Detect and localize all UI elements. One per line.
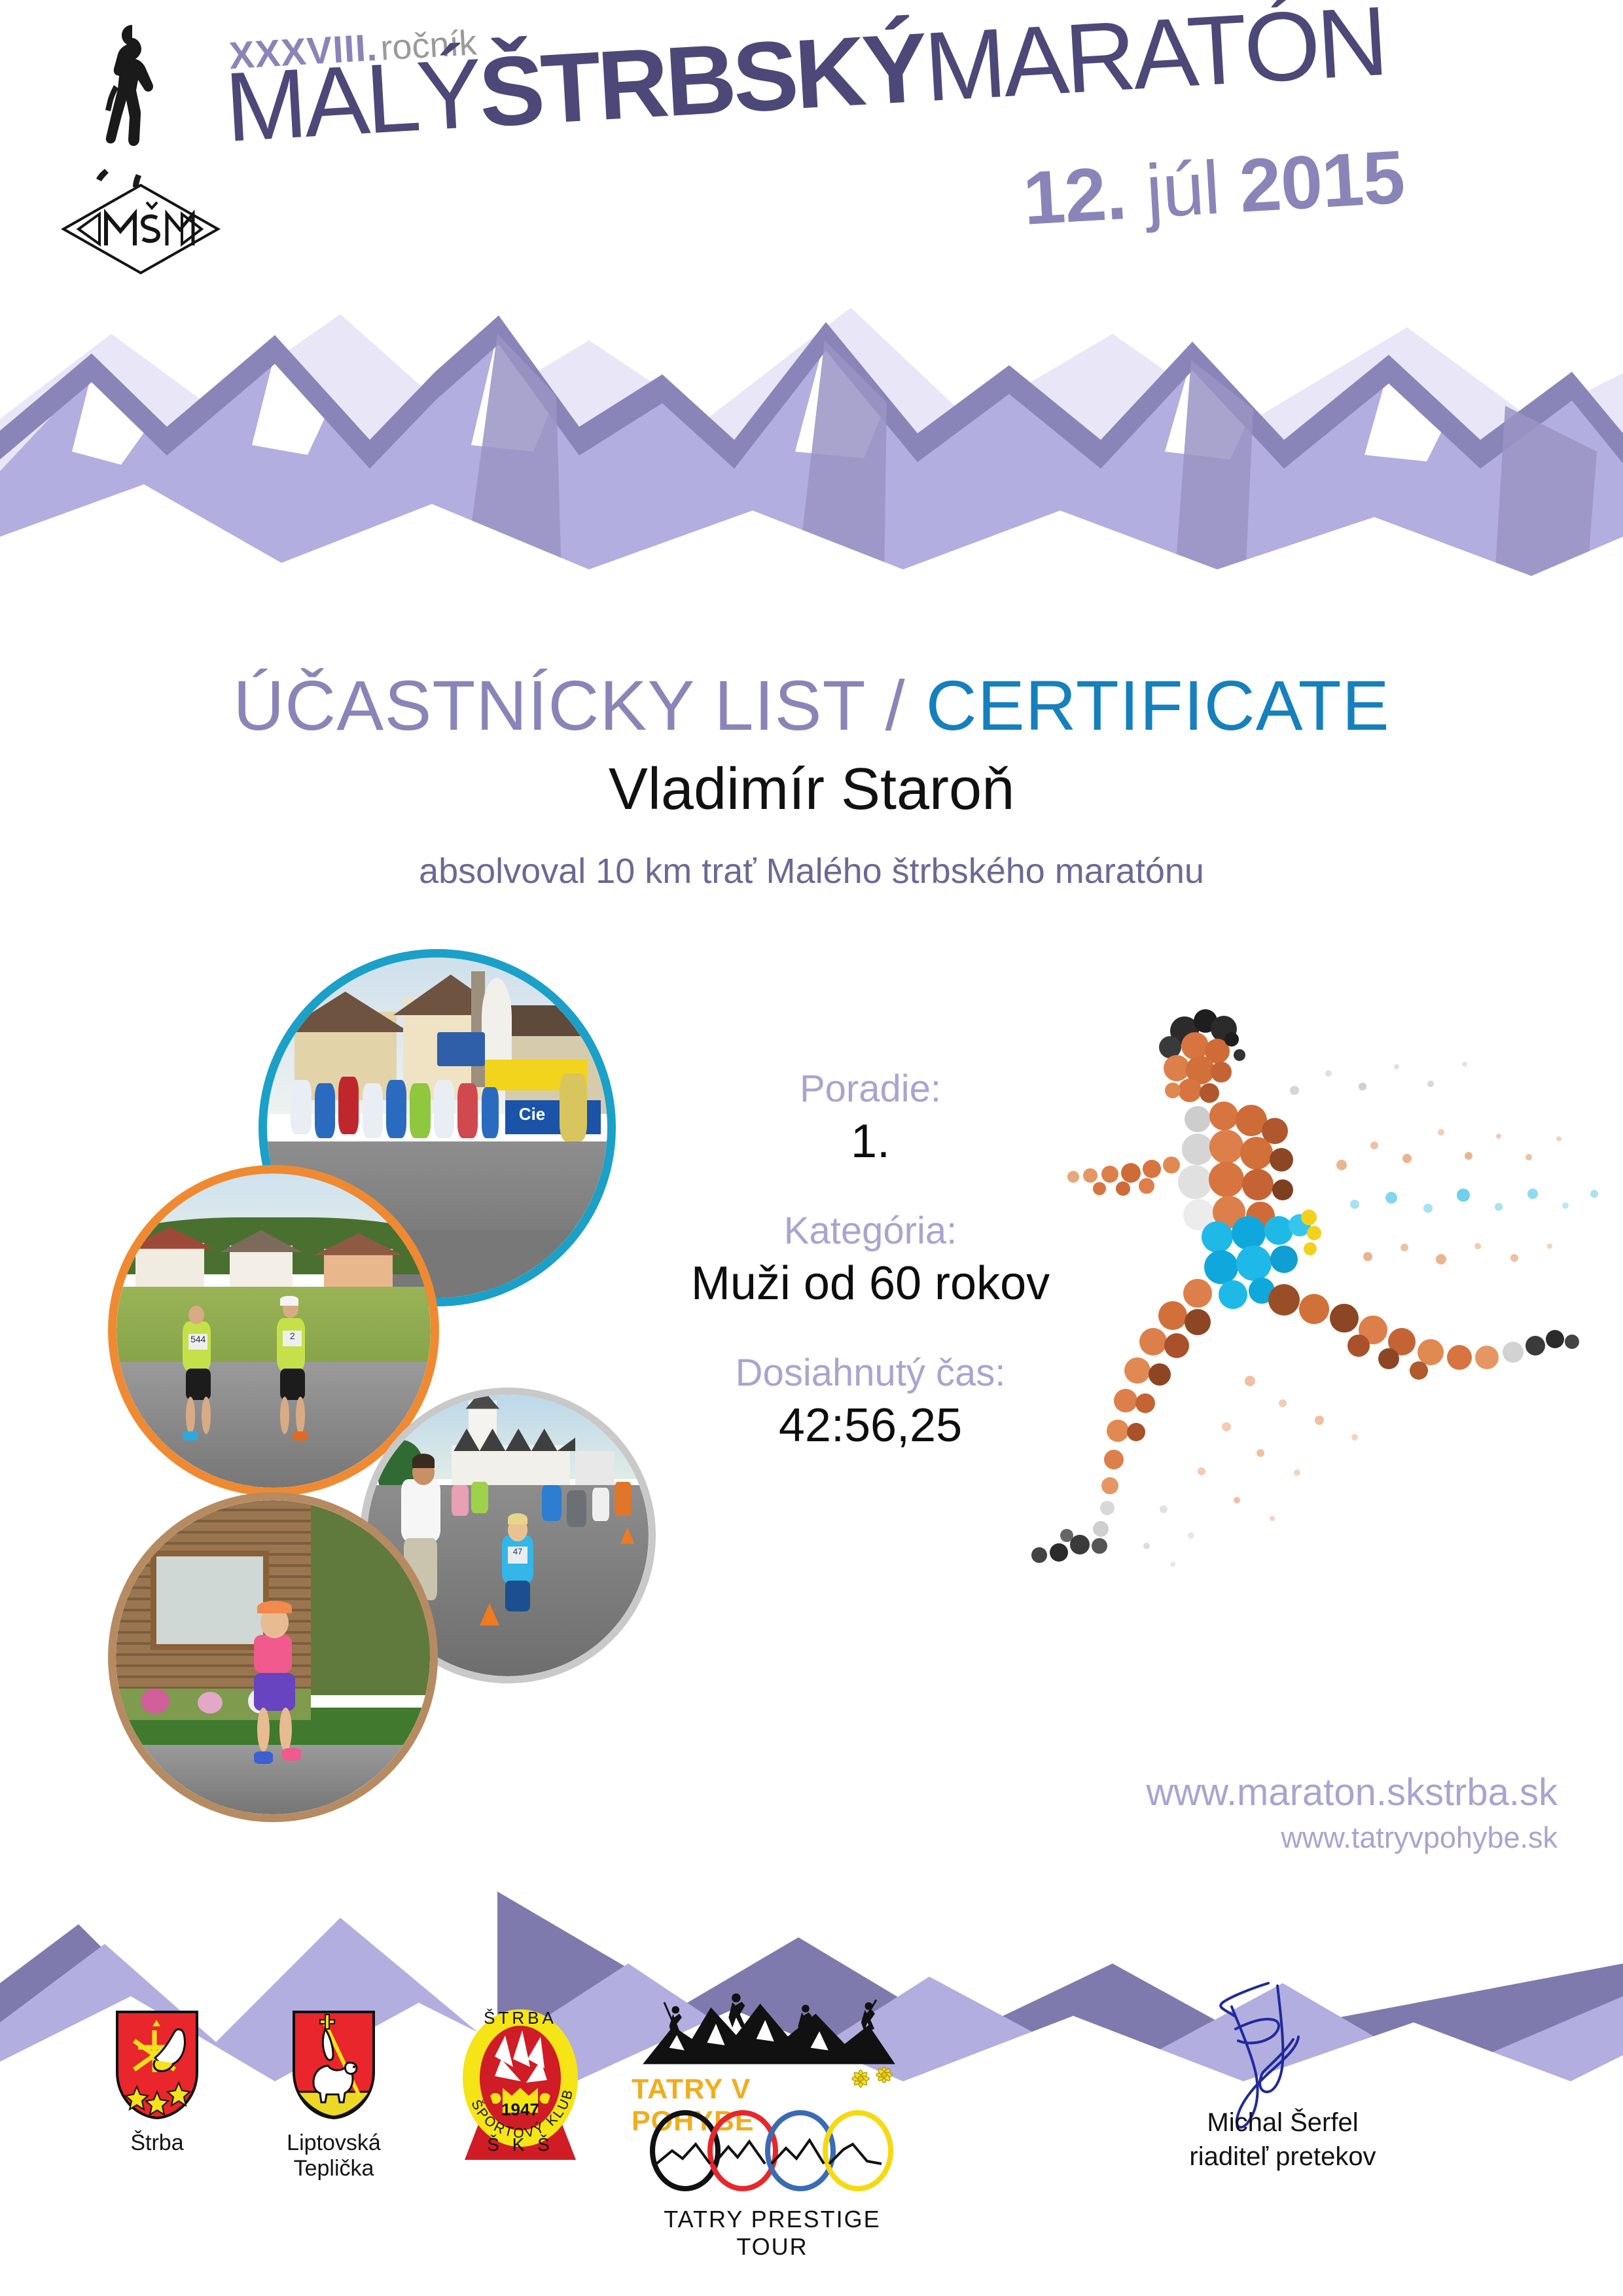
runner-head: [1159, 1009, 1245, 1103]
runner-dispersion-particles: [1143, 1062, 1598, 1567]
event-title: MALÝŠTRBSKÝMARATÓN: [223, 0, 1387, 158]
sks-club-logo-icon: 1947 ŠTRBA Š K Š ŠPORTOVÝ KLUB: [445, 1996, 596, 2166]
date-day: 12.: [1021, 150, 1149, 241]
page-footer: Štrba Liptovská Teplička: [0, 1990, 1623, 2291]
runner-back-arm: [1067, 1157, 1180, 1196]
sks-year: 1947: [501, 2100, 539, 2119]
header-text-group: XXXVIII. ročník MALÝŠTRBSKÝMARATÓN 12. j…: [216, 7, 1603, 281]
edelweiss-flowers-icon: [846, 2060, 904, 2100]
website-links: www.maraton.skstrba.sk www.tatryvpohybe.…: [1146, 1770, 1558, 1855]
date-month: júl: [1144, 145, 1242, 234]
sks-top-text: ŠTRBA: [484, 2008, 557, 2028]
olympic-rings-mountains-icon: [645, 2108, 900, 2206]
certificate-page: XXXVIII. ročník MALÝŠTRBSKÝMARATÓN 12. j…: [0, 0, 1623, 2296]
msm-logo: [46, 20, 216, 268]
signatory-role: riaditeľ pretekov: [1113, 2140, 1453, 2174]
title-strbsky: ŠTRBSKÝ: [476, 12, 927, 147]
event-date: 12. júl 2015: [1021, 134, 1406, 242]
title-separator: /: [865, 666, 926, 745]
runner-rear-leg: [1268, 1284, 1579, 1380]
runner-shorts: [1202, 1210, 1321, 1309]
tatry-prestige-tour-logo: TATRY PRESTIGE TOUR: [645, 2108, 900, 2238]
liptovska-teplicka-coat-of-arms-icon: [291, 2009, 376, 2121]
mountain-band-top: [0, 255, 1623, 622]
crest-strba: Štrba: [92, 2009, 223, 2156]
title-maraton: MARATÓN: [921, 0, 1387, 122]
strba-coat-of-arms-icon: [115, 2009, 200, 2121]
runner-particle-artwork: [1001, 969, 1623, 1774]
crest-strba-caption: Štrba: [92, 2130, 223, 2156]
title-slovak: ÚČASTNÍCKY LIST: [233, 666, 865, 745]
tatry-prestige-tour-label: TATRY PRESTIGE TOUR: [645, 2206, 900, 2261]
photo-collage: Cie: [85, 936, 648, 1865]
runner-front-leg: [1093, 1279, 1212, 1537]
date-year: 2015: [1237, 135, 1406, 228]
page-title: ÚČASTNÍCKY LIST / CERTIFICATE: [0, 664, 1623, 746]
achievement-line: absolvoval 10 km trať Malého štrbského m…: [0, 851, 1623, 891]
link-primary[interactable]: www.maraton.skstrba.sk: [1146, 1770, 1558, 1814]
runner-lineart-icon: [85, 20, 177, 196]
tatry-v-pohybe-logo: TATRY V POHYBE: [632, 1990, 906, 2121]
participant-name: Vladimír Staroň: [0, 756, 1623, 823]
signature-block: Michal Šerfel riaditeľ pretekov: [1113, 1964, 1453, 2174]
title-maly: MALÝ: [223, 38, 483, 162]
crest-liptovska-teplicka: Liptovská Teplička: [262, 2009, 406, 2181]
title-english: CERTIFICATE: [926, 666, 1390, 745]
runner-torso: [1178, 1102, 1293, 1230]
photo-female-runner-by-cabin: [108, 1492, 438, 1822]
crest-caption-line1: Liptovská: [262, 2130, 406, 2156]
crest-caption-line2: Teplička: [262, 2156, 406, 2181]
link-secondary[interactable]: www.tatryvpohybe.sk: [1146, 1821, 1558, 1855]
crest-liptovska-caption: Liptovská Teplička: [262, 2130, 406, 2181]
